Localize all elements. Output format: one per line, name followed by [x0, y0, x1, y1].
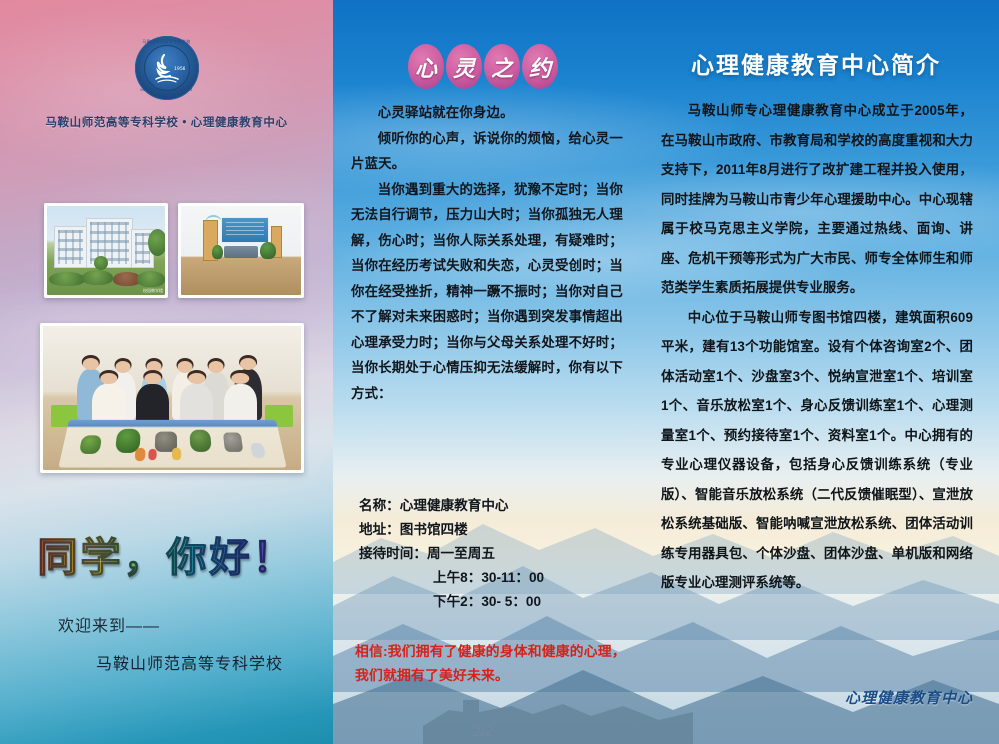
contact-info-block: 名称：心理健康教育中心 地址：图书馆四楼 接待时间：周一至周五 上午8：30-1…	[359, 494, 635, 614]
campus-building-photo: 校园教学楼	[44, 203, 168, 298]
title-char-2: 灵	[446, 44, 482, 89]
sand-tray-figure	[147, 449, 156, 460]
info-label-hours: 接待时间：	[359, 546, 427, 561]
center-paragraph-3: 当你遇到重大的选择，犹豫不定时；当你无法自行调节，压力山大时；当你孤独无人理解，…	[351, 177, 623, 407]
soul-appointment-title: 心 灵 之 约	[333, 44, 633, 89]
title-char-3: 之	[484, 44, 520, 89]
page-number: 2/2	[333, 723, 633, 740]
center-paragraph-2: 倾听你的心声，诉说你的烦恼，给心灵一片蓝天。	[351, 126, 623, 177]
center-body-text: 心灵驿站就在你身边。 倾听你的心声，诉说你的烦恼，给心灵一片蓝天。 当你遇到重大…	[351, 100, 623, 406]
building-left	[54, 226, 87, 269]
person-head	[115, 361, 130, 373]
info-row-afternoon: 下午2：30- 5：00	[359, 590, 635, 614]
left-cover-panel: 马鞍山师范高等专科学校 MAANSHAN TEACHERS COLLEGE 19…	[0, 0, 333, 744]
info-value-address: 图书馆四楼	[400, 522, 468, 537]
logo-swan-glyph-icon: 1958	[144, 45, 190, 91]
info-row-hours: 接待时间：周一至周五	[359, 542, 635, 566]
intro-title: 心理健康教育中心简介	[633, 46, 999, 80]
person-head	[177, 361, 192, 373]
center-lobby-photo	[178, 203, 304, 298]
building-center	[86, 218, 133, 268]
info-label-address: 地址：	[359, 522, 400, 537]
center-signature: 心理健康教育中心	[845, 687, 973, 708]
hedge-a	[49, 272, 84, 286]
school-name-line: 马鞍山师范高等专科学校 • 心理健康教育中心	[0, 114, 333, 130]
sand-tray-tree	[79, 435, 102, 454]
title-char-1: 心	[408, 44, 444, 89]
title-char-4: 约	[522, 44, 558, 89]
intro-body-text: 马鞍山师专心理健康教育中心成立于2005年，在马鞍山市政府、市教育局和学校的高度…	[661, 96, 973, 598]
hello-greeting-art: 同学，你好！	[0, 525, 333, 583]
lobby-plant-left	[212, 245, 223, 259]
swan-seal-logo-icon: 马鞍山师范高等专科学校 MAANSHAN TEACHERS COLLEGE 19…	[135, 36, 199, 100]
person-head	[208, 361, 223, 373]
lobby-wall-board	[221, 217, 269, 244]
tree-right	[148, 229, 165, 256]
center-slogan: 相信:我们拥有了健康的身体和健康的心理，我们就拥有了美好未来。	[355, 640, 635, 688]
welcome-line: 欢迎来到——	[58, 612, 160, 636]
lobby-scene	[181, 206, 301, 295]
hedge-b	[82, 270, 113, 285]
inner-spread: 心 灵 之 约 心灵驿站就在你身边。 倾听你的心声，诉说你的烦恼，给心灵一片蓝天…	[333, 0, 999, 744]
intro-paragraph-2: 中心位于马鞍山师专图书馆四楼，建筑面积609平米，建有13个功能馆室。设有个体咨…	[661, 303, 973, 598]
info-row-address: 地址：图书馆四楼	[359, 518, 635, 542]
brochure-page: 马鞍山师范高等专科学校 MAANSHAN TEACHERS COLLEGE 19…	[0, 0, 999, 744]
center-page: 心 灵 之 约 心灵驿站就在你身边。 倾听你的心声，诉说你的烦恼，给心灵一片蓝天…	[333, 0, 633, 744]
right-page: 心理健康教育中心简介 马鞍山师专心理健康教育中心成立于2005年，在马鞍山市政府…	[633, 0, 999, 744]
svg-text:1958: 1958	[174, 66, 185, 72]
sand-tray-tree	[189, 430, 212, 453]
info-label-name: 名称：	[359, 498, 400, 513]
logo-block: 马鞍山师范高等专科学校 MAANSHAN TEACHERS COLLEGE 19…	[0, 36, 333, 130]
person-head	[146, 361, 161, 373]
group-scene	[43, 326, 301, 470]
info-value-name: 心理健康教育中心	[400, 498, 509, 513]
sand-tray-rock	[223, 432, 243, 452]
lobby-waiting-chairs	[224, 246, 258, 258]
sand-tray-figure	[134, 448, 146, 461]
lobby-plant-right	[260, 242, 276, 260]
info-row-name: 名称：心理健康教育中心	[359, 494, 635, 518]
campus-scene: 校园教学楼	[47, 206, 165, 295]
info-value-hours: 周一至周五	[427, 546, 495, 561]
center-paragraph-1: 心灵驿站就在你身边。	[351, 100, 623, 126]
sand-tray-figure	[250, 444, 266, 459]
group-sandtray-photo	[40, 323, 304, 473]
sand-tray-figure	[172, 448, 181, 460]
intro-paragraph-1: 马鞍山师专心理健康教育中心成立于2005年，在马鞍山市政府、市教育局和学校的高度…	[661, 96, 973, 303]
person-head	[240, 358, 256, 370]
welcome-school-name: 马鞍山师范高等专科学校	[96, 650, 283, 674]
hedge-d	[137, 271, 165, 287]
photo-watermark: 校园教学楼	[143, 288, 163, 294]
sand-tray-table	[58, 420, 286, 468]
info-row-morning: 上午8：30-11：00	[359, 566, 635, 590]
